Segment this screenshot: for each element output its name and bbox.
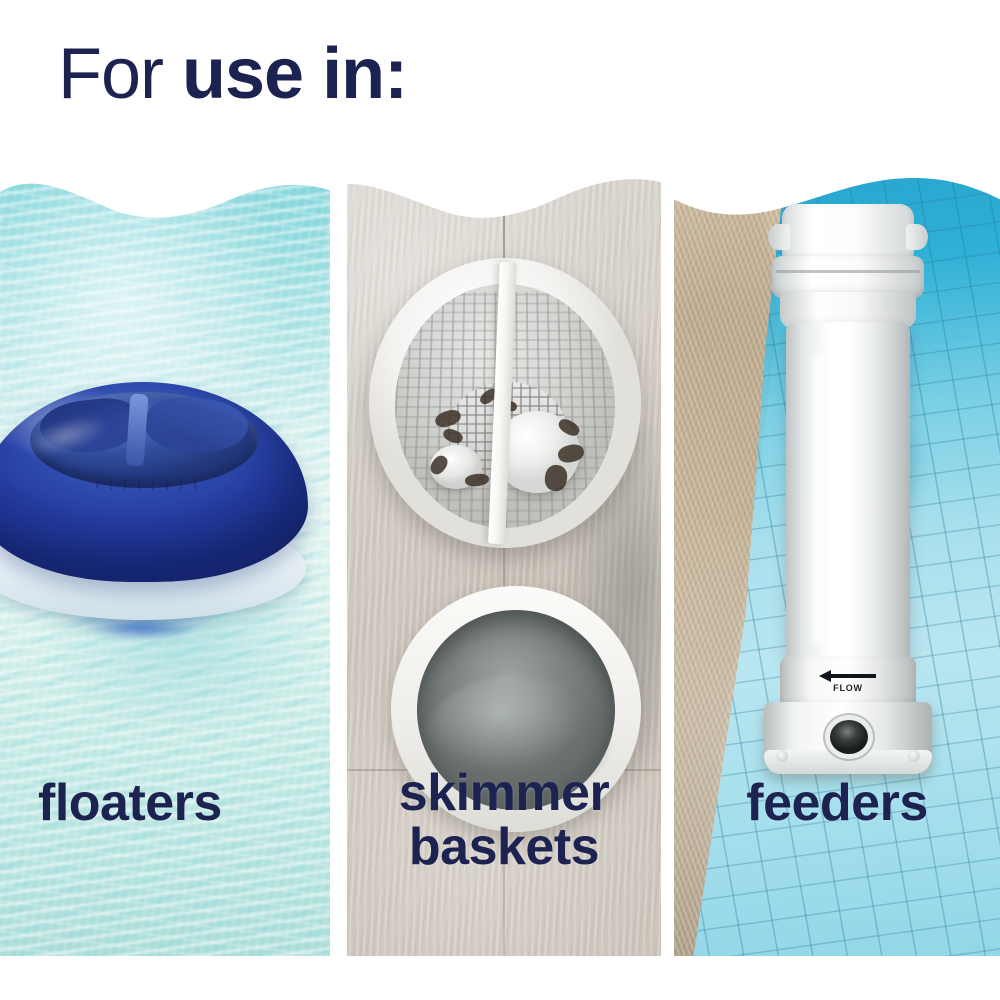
flow-arrow-icon — [819, 670, 877, 682]
chlorine-feeder-product-image: FLOW — [760, 204, 936, 774]
skimmer-basket-product-image — [369, 258, 641, 548]
feeder-outlet-port — [830, 720, 868, 754]
panel-label-skimmer-baskets: skimmer baskets — [347, 766, 661, 874]
title-lead: For — [58, 34, 182, 114]
panel-label-feeders: feeders — [674, 776, 1000, 830]
feeder-cap — [782, 204, 914, 262]
poster-canvas: For use in: — [0, 0, 1000, 1000]
chlorine-floater-product-image — [0, 378, 308, 668]
panel-feeders: FLOW feeders — [674, 176, 1000, 956]
panel-group: floaters — [0, 176, 1000, 958]
title-emphasis: use in: — [182, 34, 407, 114]
panel-label-line-2: baskets — [347, 820, 661, 874]
flow-indicator: FLOW — [802, 666, 894, 696]
page-title: For use in: — [58, 34, 407, 114]
flow-label: FLOW — [833, 683, 863, 693]
panel-label-floaters: floaters — [38, 776, 222, 830]
panel-floaters: floaters — [0, 176, 330, 956]
panel-skimmer-baskets: skimmer baskets — [347, 176, 661, 956]
panel-label-line-1: skimmer — [347, 766, 661, 820]
feeder-body — [786, 322, 910, 670]
